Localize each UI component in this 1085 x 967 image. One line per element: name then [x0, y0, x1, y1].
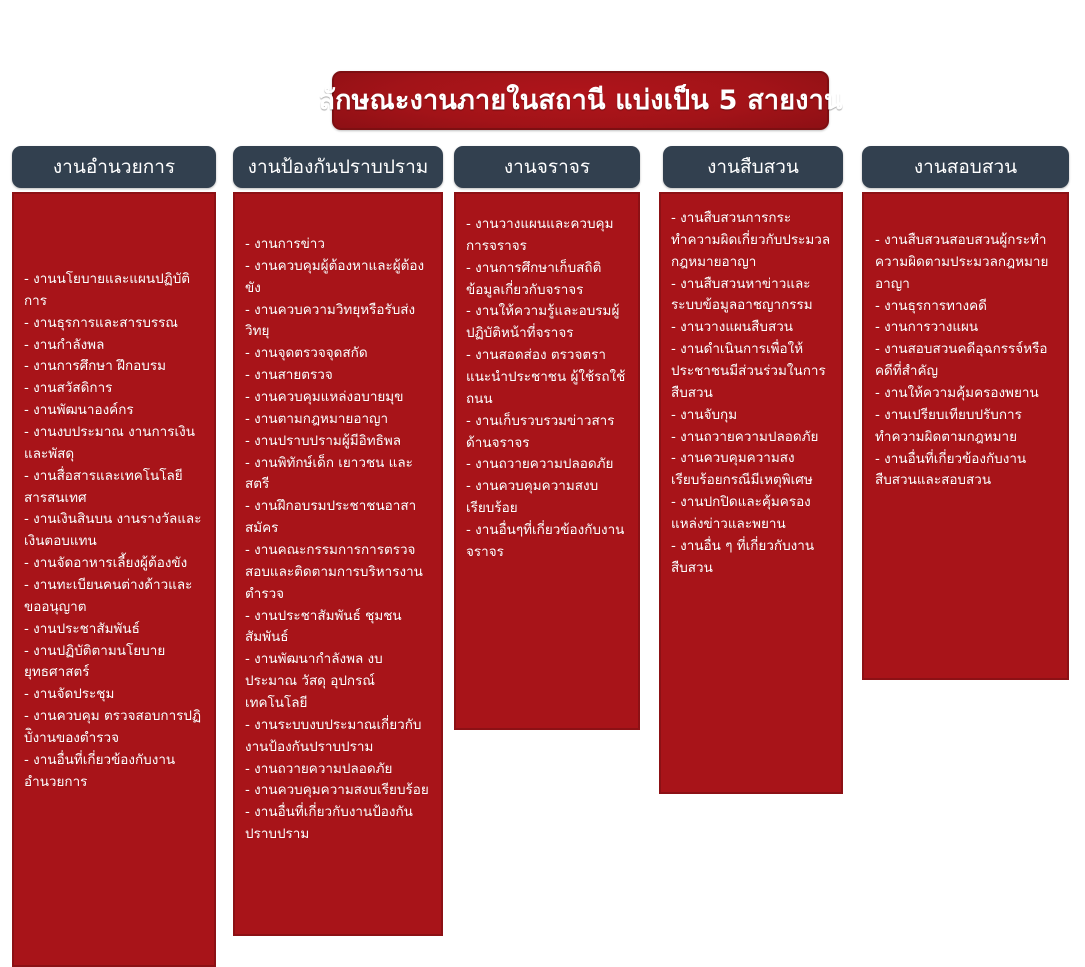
- task-item: - งานให้ความคุ้มครองพยาน: [875, 383, 1056, 405]
- task-item: - งานการข่าว: [245, 234, 431, 256]
- task-item: - งานงบประมาณ งานการเงินและพัสดุ: [24, 422, 204, 466]
- task-item: - งานสวัสดิการ: [24, 378, 204, 400]
- task-item: - งานดำเนินการเพื่อให้ประชาชนมีส่วนร่วมใ…: [671, 339, 831, 405]
- task-item: - งานเงินสินบน งานรางวัลและเงินตอบแทน: [24, 509, 204, 553]
- task-item: - งานควบคุมความสงเรียบร้อยกรณีมีเหตุพิเศ…: [671, 448, 831, 492]
- branch-body-investigation: - งานสืบสวนการกระทำความผิดเกี่ยวกับประมว…: [659, 192, 843, 794]
- task-item: - งานจัดอาหารเลี้ยงผู้ต้องขัง: [24, 553, 204, 575]
- branch-body-traffic: - งานวางแผนและควบคุมการจราจร - งานการศึก…: [454, 192, 640, 730]
- branch-header-label: งานสืบสวน: [707, 158, 799, 177]
- branch-column-administration: งานอำนวยการ - งานนโยบายและแผนปฏิบัติการ …: [12, 146, 216, 188]
- task-item: - งานปกปิดและคุ้มครองแหล่งข่าวและพยาน: [671, 492, 831, 536]
- task-item: - งานจับกุม: [671, 405, 831, 427]
- task-item: - งานถวายความปลอดภัย: [671, 427, 831, 449]
- task-item: - งานควบคุมความสงบเรียบร้อย: [245, 780, 431, 802]
- branch-column-traffic: งานจราจร - งานวางแผนและควบคุมการจราจร - …: [454, 146, 640, 188]
- diagram-title-banner: ลักษณะงานภายในสถานี แบ่งเป็น 5 สายงาน: [332, 71, 829, 130]
- task-item: - งานการศึกษาเก็บสถิติข้อมูลเกี่ยวกับจรา…: [466, 258, 628, 302]
- task-item: - งานสืบสวนหาข่าวและระบบข้อมูลอาชญากรรม: [671, 274, 831, 318]
- task-item: - งานวางแผนสืบสวน: [671, 317, 831, 339]
- task-item: - งานอื่น ๆ ที่เกี่ยวกับงานสืบสวน: [671, 536, 831, 580]
- task-item: - งานควบคุมผู้ต้องหาและผู้ต้องขัง: [245, 256, 431, 300]
- task-item: - งานทะเบียนคนต่างด้าวและขออนุญาต: [24, 575, 204, 619]
- task-item: - งานสืบสวนการกระทำความผิดเกี่ยวกับประมว…: [671, 208, 831, 274]
- branch-header-label: งานป้องกันปราบปราม: [248, 158, 429, 177]
- task-item: - งานควบคุม ตรวจสอบการปฏิบัิงานของตำรวจ: [24, 706, 204, 750]
- task-item: - งานประชาสัมพันธ์: [24, 619, 204, 641]
- task-item: - งานถวายความปลอดภัย: [245, 759, 431, 781]
- task-item: - งานอื่นที่เกี่ยวกับงานป้องกันปราบปราม: [245, 802, 431, 846]
- branch-header-inquiry[interactable]: งานสอบสวน: [862, 146, 1069, 188]
- branch-body-inquiry: - งานสืบสวนสอบสวนผู้กระทำความผิดตามประมว…: [862, 192, 1069, 680]
- task-item: - งานอื่นที่เกี่ยวข้องกับงานสืบสวนและสอบ…: [875, 449, 1056, 493]
- task-item: - งานระบบงบประมาณเกี่ยวกับงานป้องกันปราบ…: [245, 715, 431, 759]
- task-item: - งานควบคุมแหล่งอบายมุข: [245, 387, 431, 409]
- task-item: - งานธุรการและสารบรรณ: [24, 313, 204, 335]
- task-item: - งานตามกฎหมายอาญา: [245, 409, 431, 431]
- branch-header-label: งานจราจร: [504, 158, 590, 177]
- task-item: - งานสายตรวจ: [245, 365, 431, 387]
- task-item: - งานถวายความปลอดภัย: [466, 454, 628, 476]
- branch-header-traffic[interactable]: งานจราจร: [454, 146, 640, 188]
- task-item: - งานเปรียบเทียบปรับการทำความผิดตามกฎหมา…: [875, 405, 1056, 449]
- branch-column-investigation: งานสืบสวน - งานสืบสวนการกระทำความผิดเกี่…: [659, 146, 843, 188]
- branch-task-list: - งานสืบสวนการกระทำความผิดเกี่ยวกับประมว…: [671, 208, 831, 580]
- branch-task-list: - งานนโยบายและแผนปฏิบัติการ - งานธุรการแ…: [24, 269, 204, 794]
- task-item: - งานฝึกอบรมประชาชนอาสาสมัคร: [245, 496, 431, 540]
- branch-header-administration[interactable]: งานอำนวยการ: [12, 146, 216, 188]
- branch-task-list: - งานสืบสวนสอบสวนผู้กระทำความผิดตามประมว…: [875, 230, 1056, 492]
- task-item: - งานปฏิบัติตามนโยบายยุทธศาสตร์: [24, 641, 204, 685]
- branch-header-crime-prevention[interactable]: งานป้องกันปราบปราม: [233, 146, 443, 188]
- task-item: - งานคณะกรรมการการตรวจสอบและติดตามการบริ…: [245, 540, 431, 606]
- task-item: - งานนโยบายและแผนปฏิบัติการ: [24, 269, 204, 313]
- task-item: - งานพิทักษ์เด็ก เยาวชน และสตรี: [245, 453, 431, 497]
- task-item: - งานกำลังพล: [24, 335, 204, 357]
- task-item: - งานพัฒนาองค์กร: [24, 400, 204, 422]
- task-item: - งานสอบสวนคดีอุฉกรรจ์หรือคดีที่สำคัญ: [875, 339, 1056, 383]
- branch-header-investigation[interactable]: งานสืบสวน: [663, 146, 843, 188]
- task-item: - งานอื่นที่เกี่ยวข้องกับงานอำนวยการ: [24, 750, 204, 794]
- task-item: - งานจัดประชุม: [24, 684, 204, 706]
- task-item: - งานวางแผนและควบคุมการจราจร: [466, 214, 628, 258]
- branch-task-list: - งานวางแผนและควบคุมการจราจร - งานการศึก…: [466, 214, 628, 564]
- task-item: - งานพัฒนากำลังพล งบประมาณ วัสดุ อุปกรณ์…: [245, 649, 431, 715]
- task-item: - งานสื่อสารและเทคโนโลยีสารสนเทศ: [24, 466, 204, 510]
- branch-body-crime-prevention: - งานการข่าว - งานควบคุมผู้ต้องหาและผู้ต…: [233, 192, 443, 936]
- task-item: - งานธุรการทางคดี: [875, 296, 1056, 318]
- branch-body-administration: - งานนโยบายและแผนปฏิบัติการ - งานธุรการแ…: [12, 192, 216, 967]
- task-item: - งานจุดตรวจจุดสกัด: [245, 343, 431, 365]
- task-item: - งานอื่นๆที่เกี่ยวข้องกับงานจราจร: [466, 520, 628, 564]
- task-item: - งานประชาสัมพันธ์ ชุมชนสัมพันธ์: [245, 606, 431, 650]
- task-item: - งานให้ความรู้และอบรมผู้ปฏิบัติหน้าที่จ…: [466, 301, 628, 345]
- task-item: - งานควบความวิทยุหรือรับส่งวิทยุ: [245, 300, 431, 344]
- branch-column-inquiry: งานสอบสวน - งานสืบสวนสอบสวนผู้กระทำความผ…: [862, 146, 1069, 188]
- branch-task-list: - งานการข่าว - งานควบคุมผู้ต้องหาและผู้ต…: [245, 234, 431, 846]
- branch-column-crime-prevention: งานป้องกันปราบปราม - งานการข่าว - งานควบ…: [233, 146, 443, 188]
- task-item: - งานเก็บรวบรวมข่าวสารด้านจราจร: [466, 411, 628, 455]
- branch-header-label: งานอำนวยการ: [53, 158, 175, 177]
- task-item: - งานสืบสวนสอบสวนผู้กระทำความผิดตามประมว…: [875, 230, 1056, 296]
- task-item: - งานการศึกษา ฝึกอบรม: [24, 356, 204, 378]
- task-item: - งานควบคุมความสงบเรียบร้อย: [466, 476, 628, 520]
- branch-header-label: งานสอบสวน: [914, 158, 1017, 177]
- diagram-title-text: ลักษณะงานภายในสถานี แบ่งเป็น 5 สายงาน: [318, 87, 842, 114]
- task-item: - งานการวางแผน: [875, 317, 1056, 339]
- task-item: - งานสอดส่อง ตรวจตรา แนะนำประชาชน ผู้ใช้…: [466, 345, 628, 411]
- task-item: - งานปราบปรามผู้มีอิทธิพล: [245, 431, 431, 453]
